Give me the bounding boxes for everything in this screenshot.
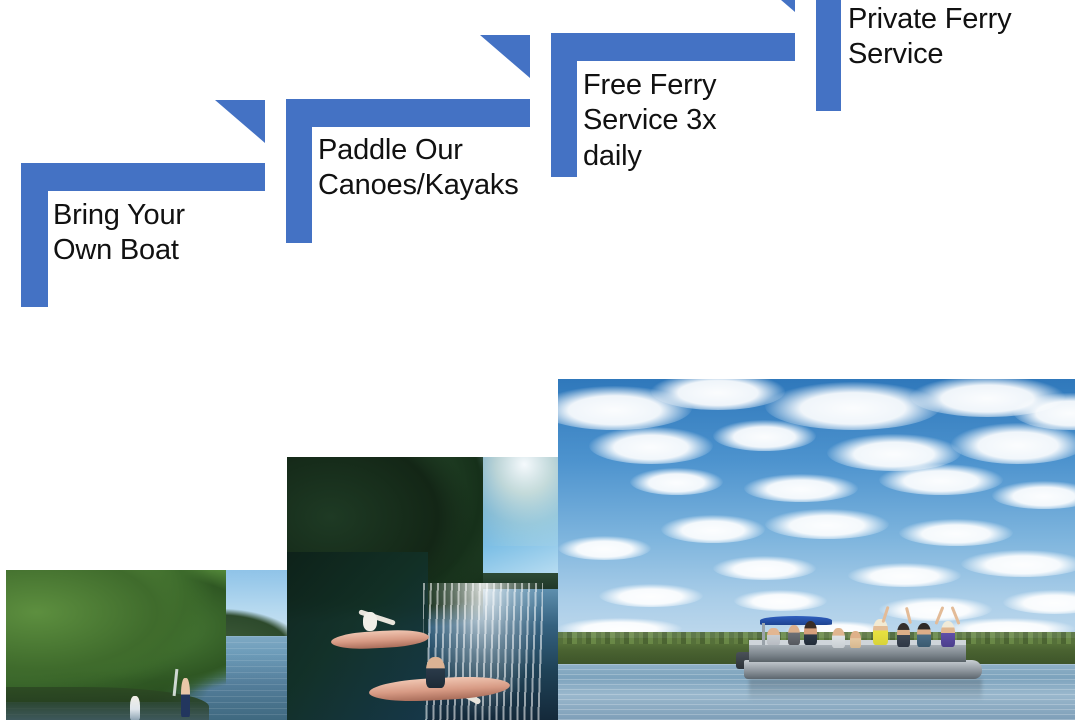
photo-pontoon-content bbox=[558, 379, 1075, 720]
photo-pontoon bbox=[558, 379, 1075, 720]
boat-reflection bbox=[749, 679, 982, 699]
passenger-waving bbox=[873, 619, 887, 645]
passenger bbox=[897, 623, 910, 647]
cloud bbox=[599, 584, 702, 608]
cloud bbox=[558, 536, 651, 560]
bimini-canopy bbox=[760, 616, 832, 625]
passenger-waving bbox=[941, 621, 955, 647]
tree-canopy bbox=[6, 570, 226, 702]
person-wading bbox=[130, 696, 140, 720]
passenger bbox=[804, 621, 817, 645]
cloud bbox=[765, 509, 889, 540]
cloud bbox=[879, 464, 1003, 495]
slide-canvas: Bring Your Own Boat Paddle Our Canoes/Ka… bbox=[0, 0, 1080, 720]
kayaker-lower bbox=[426, 657, 445, 689]
cloud bbox=[848, 563, 962, 587]
cloud bbox=[589, 427, 713, 465]
cloud bbox=[744, 474, 858, 501]
photo-kayakers bbox=[287, 457, 559, 720]
passenger bbox=[767, 628, 779, 645]
cloud bbox=[992, 481, 1075, 508]
passenger bbox=[788, 625, 800, 645]
person-standing bbox=[181, 678, 190, 717]
cloud bbox=[630, 468, 723, 495]
step-4-vertical-bar bbox=[816, 0, 841, 111]
cloud bbox=[961, 550, 1075, 577]
cloud bbox=[713, 420, 816, 451]
canopy-post bbox=[762, 623, 765, 645]
step-4-label: Private Ferry Service bbox=[848, 2, 1080, 73]
photo-shoreline bbox=[6, 570, 288, 720]
cloud bbox=[879, 597, 993, 621]
kayaker-upper bbox=[363, 612, 377, 630]
passenger bbox=[832, 628, 845, 648]
photo-kayakers-content bbox=[287, 457, 559, 720]
cloud bbox=[899, 519, 1013, 546]
passenger bbox=[850, 631, 861, 648]
cloud bbox=[734, 590, 827, 610]
pontoon-hull bbox=[744, 660, 982, 679]
cloud bbox=[661, 515, 764, 542]
photo-shoreline-content bbox=[6, 570, 288, 720]
passenger bbox=[917, 623, 930, 647]
